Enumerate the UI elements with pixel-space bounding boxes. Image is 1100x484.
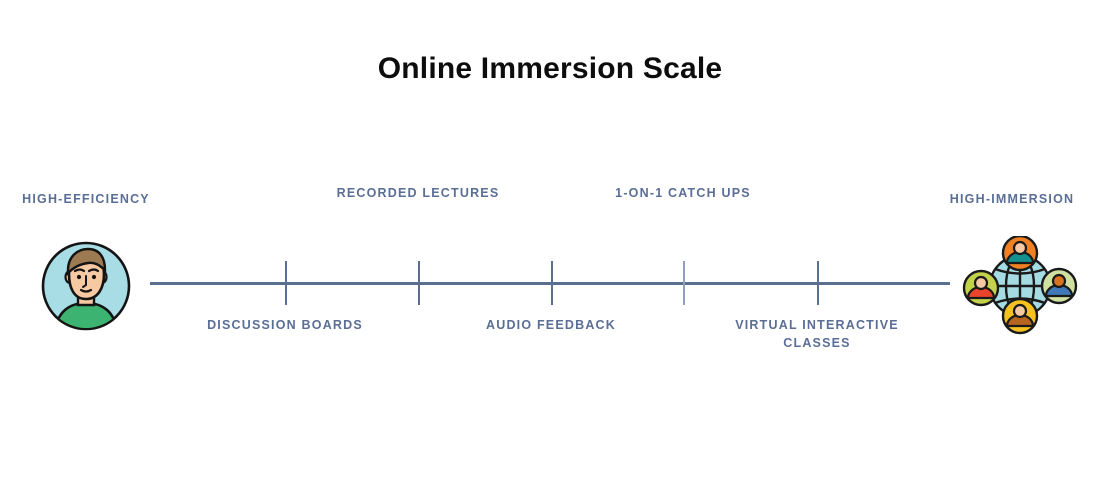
scale-tick-1 — [285, 261, 287, 305]
scale-tick-label-3: AUDIO FEEDBACK — [466, 316, 636, 334]
immersion-scale-diagram: DISCUSSION BOARDS RECORDED LECTURES AUDI… — [0, 0, 1100, 484]
scale-tick-3 — [551, 261, 553, 305]
endpoint-label-right: HIGH-IMMERSION — [912, 190, 1100, 208]
scale-tick-label-4: 1-ON-1 CATCH UPS — [598, 184, 768, 202]
scale-tick-5 — [817, 261, 819, 305]
person-avatar-icon — [40, 240, 132, 332]
endpoint-label-left: HIGH-EFFICIENCY — [0, 190, 186, 208]
scale-tick-2 — [418, 261, 420, 305]
scale-tick-label-2: RECORDED LECTURES — [333, 184, 503, 202]
scale-tick-4 — [683, 261, 685, 305]
scale-axis-line — [150, 282, 950, 285]
scale-tick-label-1: DISCUSSION BOARDS — [200, 316, 370, 334]
scale-tick-label-5: VIRTUAL INTERACTIVE CLASSES — [732, 316, 902, 352]
global-network-people-icon — [962, 236, 1078, 336]
